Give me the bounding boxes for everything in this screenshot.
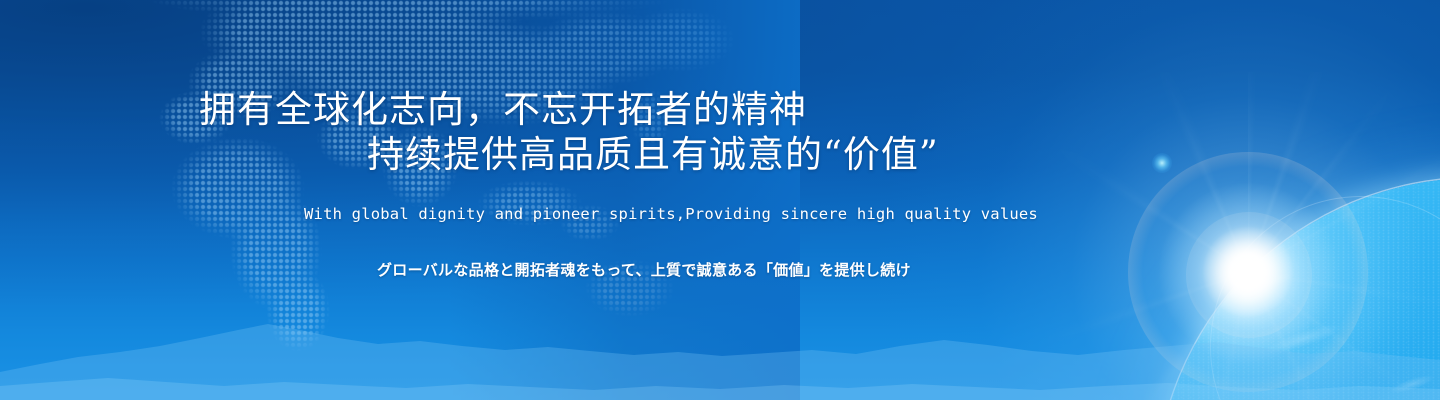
- hero-banner: 拥有全球化志向，不忘开拓者的精神 持续提供高品质且有诚意的“价值” With g…: [0, 0, 1440, 400]
- subtitle-english: With global dignity and pioneer spirits,…: [304, 205, 1038, 223]
- headline-line-1: 拥有全球化志向，不忘开拓者的精神: [199, 91, 807, 128]
- subtitle-japanese: グローバルな品格と開拓者魂をもって、上質で誠意ある「価値」を提供し続け: [377, 259, 911, 280]
- banner-text-block: 拥有全球化志向，不忘开拓者的精神 持续提供高品质且有诚意的“价值” With g…: [0, 0, 1440, 400]
- headline-line-2: 持续提供高品质且有诚意的“价值”: [367, 136, 939, 173]
